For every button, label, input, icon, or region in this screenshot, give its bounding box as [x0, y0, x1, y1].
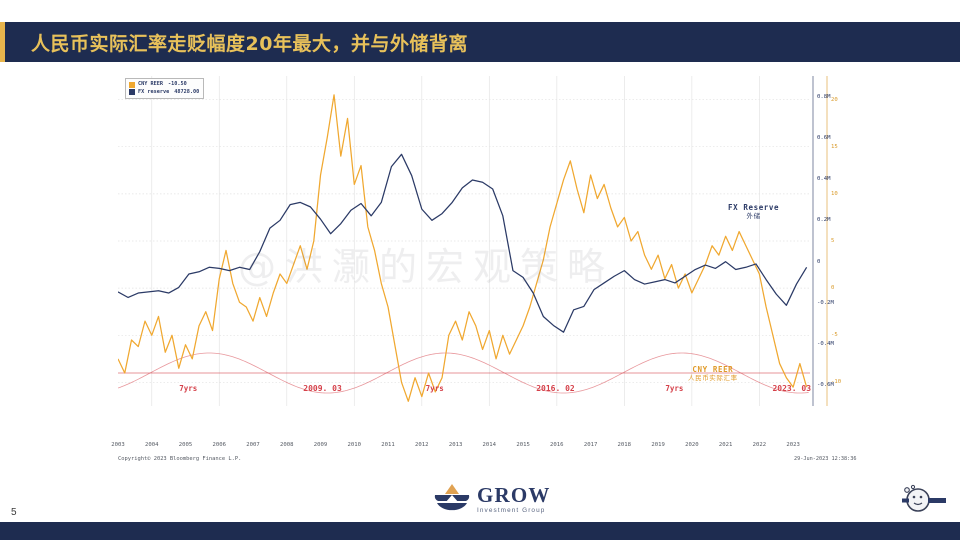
x-tick-label: 2008: [280, 442, 293, 448]
y-tick-label-reer: 10: [831, 191, 838, 197]
x-tick-label: 2016: [550, 442, 563, 448]
cycle-span-label: 7yrs: [665, 384, 683, 393]
x-tick-label: 2013: [449, 442, 462, 448]
title-spacer: [5, 22, 31, 62]
y-tick-label-fx: 0.8M: [817, 94, 830, 100]
y-tick-label-fx: -0.2M: [817, 300, 834, 306]
x-tick-label: 2012: [415, 442, 428, 448]
legend-label: FX reserve: [138, 89, 169, 97]
logo-tagline: Investment Group: [477, 507, 551, 514]
x-tick-label: 2011: [381, 442, 394, 448]
chart-source-note: Copyright© 2023 Bloomberg Finance L.P.: [118, 456, 241, 462]
legend-value: 48728.00: [174, 89, 199, 97]
logo-wordmark: GROW: [477, 485, 551, 506]
legend-swatch-icon: [129, 82, 135, 88]
axis-spines: [813, 76, 827, 406]
x-tick-label: 2004: [145, 442, 158, 448]
series-annotation-label-cn: 人民币实际汇率: [688, 375, 738, 382]
cycle-date-label: 2023. 03: [772, 384, 811, 393]
grow-logo-text: GROW Investment Group: [477, 485, 551, 514]
x-tick-label: 2007: [246, 442, 259, 448]
legend-item-cny-reer: CNY REER -10.50: [129, 81, 199, 89]
bottom-right-avatar-icon: [902, 484, 946, 518]
x-tick-label: 2014: [483, 442, 496, 448]
y-tick-label-fx: 0: [817, 259, 820, 265]
slide-title-bar: 人民币实际汇率走贬幅度20年最大，并与外储背离: [0, 22, 960, 62]
series-annotation-label-cn: 外储: [728, 213, 779, 220]
slide-root: 人民币实际汇率走贬幅度20年最大，并与外储背离 @洪灏的宏观策略: [0, 0, 960, 540]
y-tick-label-reer: 0: [831, 285, 834, 291]
cycle-span-label: 7yrs: [179, 384, 197, 393]
y-tick-label-reer: 15: [831, 144, 838, 150]
series-annotation-cny-reer: CNY REER 人民币实际汇率: [688, 366, 738, 382]
page-number: 5: [11, 507, 17, 518]
x-tick-label: 2021: [719, 442, 732, 448]
x-tick-label: 2010: [348, 442, 361, 448]
x-tick-label: 2006: [213, 442, 226, 448]
cycle-date-label: 2016. 02: [536, 384, 575, 393]
x-tick-label: 2018: [618, 442, 631, 448]
legend-item-fx-reserve: FX reserve 48728.00: [129, 89, 199, 97]
y-tick-label-reer: -10: [831, 379, 841, 385]
bloomberg-chart: @洪灏的宏观策略: [118, 76, 858, 471]
x-tick-label: 2009: [314, 442, 327, 448]
y-tick-label-fx: 0.4M: [817, 176, 830, 182]
y-tick-label-reer: 5: [831, 238, 834, 244]
grow-mark-icon: [432, 482, 472, 516]
legend-swatch-icon: [129, 89, 135, 95]
series-annotation-fx-reserve: FX Reserve 外储: [728, 204, 779, 220]
y-tick-label-fx: 0.6M: [817, 135, 830, 141]
page-title: 人民币实际汇率走贬幅度20年最大，并与外储背离: [31, 29, 468, 56]
chart-timestamp: 29-Jun-2023 12:38:36: [794, 456, 856, 462]
x-tick-label: 2017: [584, 442, 597, 448]
x-tick-label: 2023: [786, 442, 799, 448]
x-tick-label: 2020: [685, 442, 698, 448]
x-tick-label: 2022: [753, 442, 766, 448]
y-tick-label-fx: 0.2M: [817, 217, 830, 223]
cycle-date-label: 2009. 03: [303, 384, 342, 393]
y-tick-label-fx: -0.4M: [817, 341, 834, 347]
x-tick-label: 2005: [179, 442, 192, 448]
x-tick-label: 2015: [516, 442, 529, 448]
chart-plot-area: @洪灏的宏观策略: [118, 76, 828, 431]
x-tick-label: 2019: [651, 442, 664, 448]
grow-logo: GROW Investment Group: [432, 482, 551, 516]
x-tick-label: 2003: [111, 442, 124, 448]
y-tick-label-reer: -5: [831, 332, 838, 338]
legend-label: CNY REER: [138, 81, 163, 89]
y-tick-label-reer: 20: [831, 97, 838, 103]
cycle-span-label: 7yrs: [426, 384, 444, 393]
legend-value: -10.50: [168, 81, 187, 89]
footer-bar: [0, 522, 960, 540]
chart-legend[interactable]: CNY REER -10.50 FX reserve 48728.00: [125, 78, 204, 99]
